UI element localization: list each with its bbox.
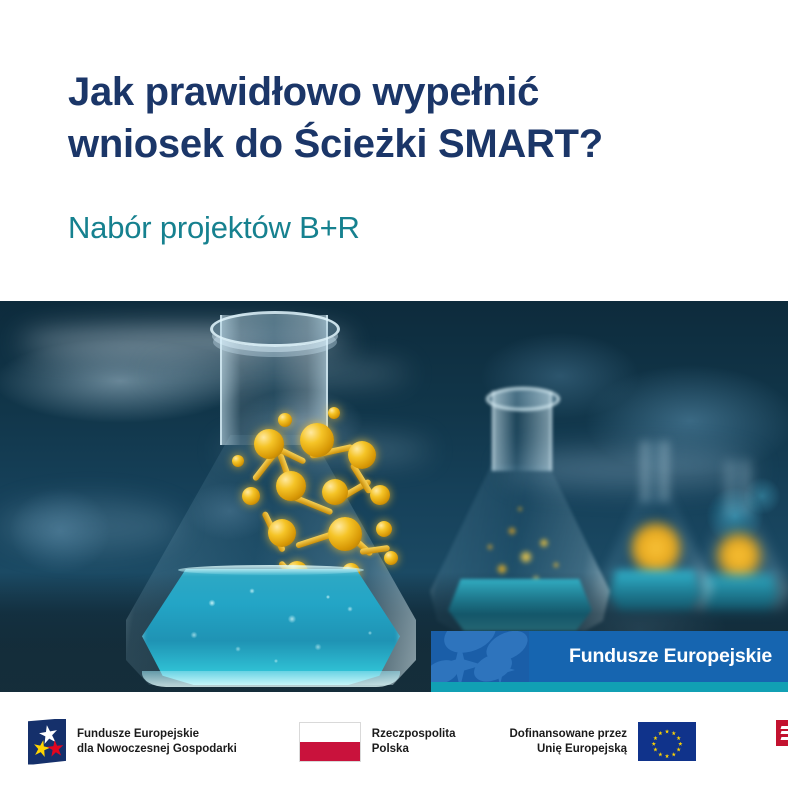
molecule-atom bbox=[384, 551, 398, 565]
molecule-atom bbox=[370, 485, 390, 505]
molecule-atom bbox=[322, 479, 348, 505]
molecule-atom bbox=[348, 441, 376, 469]
molecule-atom bbox=[232, 455, 244, 467]
molecule-atom bbox=[300, 423, 334, 457]
page-title-line-1: Jak prawidłowo wypełnić bbox=[68, 66, 728, 118]
fundusze-europejskie-badge: Fundusze Europejskie bbox=[431, 631, 788, 682]
flask-neck bbox=[492, 391, 552, 471]
caption-line-1: Rzeczpospolita bbox=[372, 727, 456, 742]
logo-dofinansowane-ue: Dofinansowane przez Unię Europejską bbox=[509, 722, 696, 761]
eu-flag-icon bbox=[638, 722, 696, 761]
hero-image: Fundusze Europejskie bbox=[0, 301, 788, 692]
fundusze-europejskie-flag-icon bbox=[28, 719, 66, 765]
fundusze-europejskie-emblem-icon bbox=[431, 631, 529, 682]
flask-base bbox=[142, 671, 400, 687]
flask-gold-particles bbox=[629, 519, 683, 577]
logo-rzeczpospolita-polska: Rzeczpospolita Polska bbox=[237, 722, 456, 762]
caption-line-2: Unię Europejską bbox=[509, 742, 627, 757]
caption-line-2: Polska bbox=[372, 742, 456, 757]
parp-mark-icon bbox=[776, 720, 788, 746]
molecule-atom bbox=[328, 407, 340, 419]
molecule-atom bbox=[242, 487, 260, 505]
caption-line-2: dla Nowoczesnej Gospodarki bbox=[77, 742, 237, 757]
star-icon bbox=[37, 723, 59, 745]
header-block: Jak prawidłowo wypełnić wniosek do Ścież… bbox=[0, 0, 788, 301]
flask-lip bbox=[210, 311, 340, 347]
caption-line-1: Dofinansowane przez bbox=[509, 727, 627, 742]
molecule-atom bbox=[254, 429, 284, 459]
molecule-atom bbox=[376, 521, 392, 537]
logo-fundusze-europejskie-caption: Fundusze Europejskie dla Nowoczesnej Gos… bbox=[77, 727, 237, 757]
footer-logo-bar: Fundusze Europejskie dla Nowoczesnej Gos… bbox=[0, 692, 788, 791]
logo-rzeczpospolita-polska-caption: Rzeczpospolita Polska bbox=[372, 727, 456, 757]
molecule-atom bbox=[278, 413, 292, 427]
molecule-atom bbox=[328, 517, 362, 551]
page-title: Jak prawidłowo wypełnić wniosek do Ścież… bbox=[68, 66, 728, 170]
poland-flag-icon bbox=[299, 722, 361, 762]
page-subtitle: Nabór projektów B+R bbox=[68, 208, 360, 248]
molecule-atom bbox=[268, 519, 296, 547]
fundusze-europejskie-badge-label: Fundusze Europejskie bbox=[529, 645, 788, 668]
badge-accent-bar bbox=[431, 682, 788, 692]
star-icon bbox=[31, 738, 51, 758]
flask-liquid bbox=[142, 569, 400, 685]
logo-parp: PARP Grupa PFR bbox=[776, 718, 788, 765]
flask-neck bbox=[726, 461, 751, 515]
logo-dofinansowane-ue-caption: Dofinansowane przez Unię Europejską bbox=[509, 727, 627, 757]
foreground-flask bbox=[126, 307, 416, 692]
caption-line-1: Fundusze Europejskie bbox=[77, 727, 237, 742]
page-title-line-2: wniosek do Ścieżki SMART? bbox=[68, 118, 728, 170]
molecule-atom bbox=[276, 471, 306, 501]
logo-fundusze-europejskie: Fundusze Europejskie dla Nowoczesnej Gos… bbox=[0, 719, 237, 765]
flask-neck bbox=[641, 441, 669, 502]
flask-liquid-surface bbox=[178, 565, 364, 575]
